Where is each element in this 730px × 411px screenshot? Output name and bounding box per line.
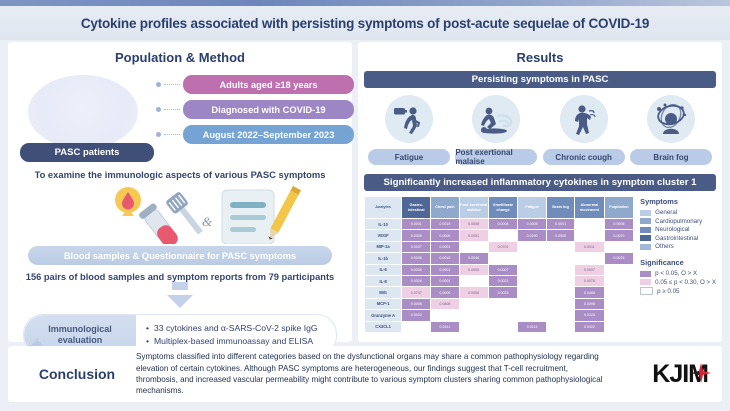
heatmap-cell [518,287,547,298]
eval-line2: evaluation [58,335,103,345]
heatmap-cell: 0.0422 [575,321,604,332]
heatmap-cell [546,275,574,286]
heatmap-cell: 0.0006 [431,287,459,298]
legend-swatch [640,218,651,224]
heatmap-cell: 0.0078 [575,275,604,286]
heatmap-cell [575,230,604,241]
legend-label: 0.05 ≤ p < 0.30, O > X [655,279,716,286]
heatmap-cell: 0.0001 [402,219,431,230]
heatmap-cell [518,275,547,286]
legend-significance-title: Significance [640,258,716,267]
heatmap-cell: 0.0025 [604,253,634,264]
heatmap-col-header: Gastro-intestinal [402,197,431,219]
heatmap-cell: 0.0001 [431,264,459,275]
cytokines-band: Significantly increased inflammatory cyt… [364,174,716,191]
evaluation-item: • 33 cytokines and α-SARS-CoV-2 spike Ig… [146,322,336,335]
pasc-patients-label: PASC patients [20,143,154,162]
heatmap-analyte-label: CX3CL1 [365,321,402,332]
bullet-dot-icon [156,82,161,87]
heatmap-cell: 0.0098 [575,298,604,309]
heatmap-cell: 0.0008 [402,253,431,264]
arrow-stem [172,282,188,290]
heatmap-cell: 0.0808 [431,298,459,309]
sample-pairs-text: 156 pairs of blood samples and symptom r… [16,272,344,282]
heatmap-cell [575,219,604,230]
heatmap-cell [604,321,634,332]
legend-item: 0.05 ≤ p < 0.30, O > X [640,279,716,286]
dotted-connector [164,109,180,111]
heatmap-cell [518,310,547,321]
heatmap-cell [575,253,604,264]
study-aim-text: To examine the immunologic aspects of va… [16,169,344,180]
legend-swatch [640,235,651,241]
heatmap-cell [518,264,547,275]
heatmap-cell: 0.0015 [431,219,459,230]
legend-swatch [640,244,651,250]
panels-row: Population & Method [8,42,722,342]
results-panel: Results Persisting symptoms in PASC Fati… [358,42,722,342]
criteria-period-pill: August 2022–September 2023 [183,125,354,144]
kjim-logo: KJIM [612,360,712,389]
heatmap-cell: 0.0008 [459,287,488,298]
persisting-symptoms-band: Persisting symptoms in PASC [364,71,716,88]
heatmap-col-header: Brain fog [546,197,574,219]
heatmap-analyte-label: IL-6 [365,264,402,275]
legend-swatch [640,287,653,295]
heatmap-header-row: AnalytesGastro-intestinalChest painPost … [365,197,634,219]
legend-symptom-classes: GeneralCardiopulmonaryNeurologicalGastro… [640,209,716,250]
heatmap-row: MCP-10.00080.08080.0098 [365,298,634,309]
legend-label: Gastrointestinal [655,235,698,242]
heatmap-cell [459,321,488,332]
legend-item: p ≥ 0.05 [640,287,716,295]
blood-and-questionnaire-icon: & [16,182,346,244]
heatmap-cell: 0.0114 [518,321,547,332]
legend-item: Gastrointestinal [640,235,716,242]
heatmap-col-analytes: Analytes [365,197,402,219]
blood-sample-illustration: & [16,182,344,244]
heatmap-cell [518,253,547,264]
heatmap-cell [488,298,518,309]
heatmap-cell [459,310,488,321]
lungs-illustration: PASC patients [20,73,146,151]
heatmap-cell: 0.0005 [459,264,488,275]
heatmap-row: IL-100.00010.00150.00580.00040.00050.000… [365,219,634,230]
heatmap-row: CX3CL10.04410.01140.0422 [365,321,634,332]
heatmap-cell: 0.0027 [402,241,431,252]
symptom-item-fatigue: Fatigue [367,95,451,165]
bullet-dot-icon [156,107,161,112]
heatmap-cell: 0.0007 [575,264,604,275]
heatmap-cell: 0.0008 [402,264,431,275]
heatmap-row: IL-1b0.00080.00150.00460.0025 [365,253,634,264]
heatmap-cell [488,310,518,321]
legend-item: Neurological [640,226,716,233]
pem-icon-circle [472,95,520,143]
heatmap-cell: 0.0225 [575,310,604,321]
heatmap-col-header: Fatigue [518,197,547,219]
heatmap-cell: 0.0011 [575,241,604,252]
symptom-item-pem: Post exertional malaise [454,95,538,165]
heatmap-col-header: Smell/taste change [488,197,518,219]
page-title: Cytokine profiles associated with persis… [81,16,649,31]
legend-item: General [640,209,716,216]
heatmap-cell: 0.0007 [488,264,518,275]
heatmap-cell [546,253,574,264]
symptom-label-brainfog: Brain fog [630,149,712,165]
heatmap-cell [518,298,547,309]
heatmap-cell [459,298,488,309]
heatmap-cell [604,275,634,286]
heatmap-cell [546,321,574,332]
legend-significance-items: p < 0.05, O > X0.05 ≤ p < 0.30, O > Xp ≥… [640,270,716,295]
kjim-star-icon [690,362,712,384]
heatmap-cell: 0.0021 [488,275,518,286]
heatmap-cell: 0.0441 [431,321,459,332]
evaluation-label-text: Immunological evaluation [48,324,112,347]
heatmap-analyte-label: IL-1b [365,253,402,264]
criteria-item: Diagnosed with COVID-19 [156,100,354,119]
heatmap-row: Granzyme A0.00020.0225 [365,310,634,321]
heatmap-cell: 0.0046 [459,253,488,264]
collapse-icon [478,102,514,136]
heatmap-analyte-label: MIG [365,287,402,298]
criteria-item: August 2022–September 2023 [156,125,354,144]
heatmap-row: MIG0.07470.00060.00080.00230.0488 [365,287,634,298]
dotted-connector [164,84,180,86]
legend-item: p < 0.05, O > X [640,270,716,277]
heatmap-cell: 0.0488 [575,287,604,298]
legend-swatch [640,210,651,216]
heatmap-cell: 0.0008 [402,298,431,309]
criteria-item: Adults aged ≥18 years [156,75,354,94]
criteria-age-pill: Adults aged ≥18 years [183,75,354,94]
heatmap-col-header: Chest pain [431,197,459,219]
legend-label: Cardiopulmonary [655,218,702,225]
heatmap-analyte-label: MIP-1a [365,241,402,252]
heatmap-cell: 0.0002 [402,310,431,321]
legend-item: Cardiopulmonary [640,218,716,225]
cytokine-heatmap-table: AnalytesGastro-intestinalChest painPost … [364,196,634,333]
heatmap-cell [604,264,634,275]
title-band: Cytokine profiles associated with persis… [0,6,730,40]
conclusion-label: Conclusion [18,366,136,382]
criteria-list: Adults aged ≥18 years Diagnosed with COV… [156,75,354,150]
heatmap-row: VEGF0.00080.00060.00510.02900.00080.0020 [365,230,634,241]
symptom-label-fatigue: Fatigue [368,149,450,165]
heatmap-analyte-label: MCP-1 [365,298,402,309]
heatmap-cell [604,287,634,298]
heatmap-col-header: Abnormal movement [575,197,604,219]
legend-symptoms-title: Symptoms [640,197,716,206]
heatmap-wrap: AnalytesGastro-intestinalChest painPost … [364,196,716,333]
legend-swatch [640,271,651,277]
evaluation-item-text: 33 cytokines and α-SARS-CoV-2 spike IgG [154,322,318,335]
heatmap-cell: 0.0008 [546,230,574,241]
heatmap-cell: 0.0020 [604,230,634,241]
symptom-item-cough: Chronic cough [542,95,626,165]
heatmap-cell: 0.0028 [402,275,431,286]
population-method-heading: Population & Method [16,50,344,65]
heatmap-cell: 0.0051 [459,230,488,241]
heatmap-row: IL-80.00280.00010.00210.0078 [365,275,634,286]
heatmap-cell [459,241,488,252]
heatmap-cell: 0.0023 [488,287,518,298]
infographic-page: Cytokine profiles associated with persis… [0,0,730,411]
bullet-icon: • [146,322,149,335]
heatmap-cell [518,241,547,252]
dotted-connector [164,134,180,136]
fatigue-icon-circle [385,95,433,143]
heatmap-cell: 0.0001 [431,241,459,252]
legend-swatch [640,279,651,285]
population-criteria-block: PASC patients Adults aged ≥18 years Diag… [16,71,344,167]
heatmap-col-header: Post exertional malaise [459,197,488,219]
brainfog-icon-circle [647,95,695,143]
heatmap-row: MIP-1a0.00270.00010.07010.0011 [365,241,634,252]
svg-text:&: & [202,214,213,229]
fatigue-icon [392,102,426,136]
heatmap-analyte-label: VEGF [365,230,402,241]
legend-item: Others [640,243,716,250]
heatmap-analyte-label: IL-8 [365,275,402,286]
conclusion-section: Conclusion Symptoms classified into diff… [8,346,722,402]
legend-label: p ≥ 0.05 [657,288,679,295]
heatmap-analyte-label: IL-10 [365,219,402,230]
heatmap-cell: 0.0001 [546,219,574,230]
arrow-head [167,295,193,308]
symptom-label-cough: Chronic cough [543,149,625,165]
legend-swatch [640,227,651,233]
cough-icon [569,102,599,136]
heatmap-cell [488,321,518,332]
heatmap-cell [604,298,634,309]
heatmap-cell [546,264,574,275]
heatmap-cell [402,321,431,332]
down-arrow-icon [16,282,344,308]
heatmap-cell [488,253,518,264]
heatmap-cell: 0.0058 [459,219,488,230]
heatmap-cell [431,310,459,321]
legend-label: General [655,209,677,216]
blood-questionnaire-band: Blood samples & Questionnaire for PASC s… [28,246,332,265]
legend-label: Neurological [655,226,689,233]
heatmap-cell: 0.0005 [604,219,634,230]
heatmap-cell: 0.0004 [488,219,518,230]
heatmap-cell: 0.0290 [518,230,547,241]
results-heading: Results [364,50,716,65]
heatmap-cell [604,241,634,252]
heatmap-analyte-label: Granzyme A [365,310,402,321]
heatmap-cell: 0.0006 [431,230,459,241]
symptom-icon-row: Fatigue Post exertional malaise [367,95,713,165]
legend-label: Others [655,243,674,250]
brain-fog-icon [653,102,689,136]
heatmap-cell: 0.0005 [518,219,547,230]
heatmap-legend: Symptoms GeneralCardiopulmonaryNeurologi… [640,196,716,333]
heatmap-cell: 0.0008 [402,230,431,241]
population-method-panel: Population & Method [8,42,352,342]
heatmap-cell: 0.0001 [431,275,459,286]
legend-label: p < 0.05, O > X [655,270,697,277]
heatmap-cell: 0.0701 [488,241,518,252]
cough-icon-circle [560,95,608,143]
lungs-backdrop [28,75,138,149]
heatmap-cell: 0.0747 [402,287,431,298]
heatmap-row: IL-60.00080.00010.00050.00070.0007 [365,264,634,275]
eval-line1: Immunological [48,324,112,334]
criteria-diagnosis-pill: Diagnosed with COVID-19 [183,100,354,119]
heatmap-col-header: Palpitation [604,197,634,219]
heatmap-cell [546,241,574,252]
conclusion-text: Symptoms classified into different categ… [136,351,612,397]
bullet-dot-icon [156,132,161,137]
heatmap-cell [488,230,518,241]
heatmap-cell [546,310,574,321]
symptom-item-brainfog: Brain fog [629,95,713,165]
heatmap-cell: 0.0015 [431,253,459,264]
heatmap-cell [459,275,488,286]
symptom-label-pem: Post exertional malaise [455,149,537,165]
heatmap-body: IL-100.00010.00150.00580.00040.00050.000… [365,219,634,333]
evaluation-items: • 33 cytokines and α-SARS-CoV-2 spike Ig… [136,322,336,348]
heatmap-cell [546,287,574,298]
heatmap-cell [546,298,574,309]
heatmap-cell [604,310,634,321]
